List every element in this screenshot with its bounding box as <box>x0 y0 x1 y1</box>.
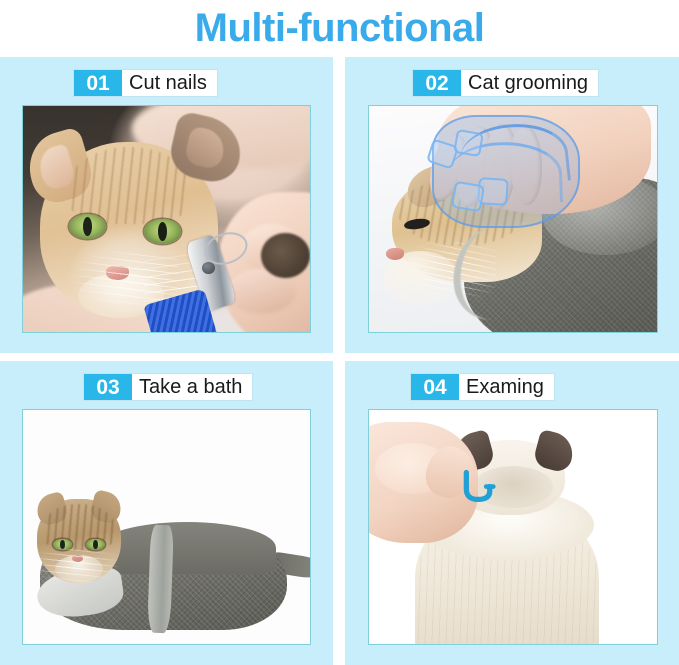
caption-label-03: Take a bath <box>132 374 252 400</box>
caption-number-04: 04 <box>411 374 459 400</box>
feature-panel-01: 01 Cut nails <box>0 57 333 353</box>
product-infographic: Multi-functional 01 Cut nails <box>0 0 679 665</box>
feature-photo-02 <box>368 105 658 333</box>
caption-number-03: 03 <box>84 374 132 400</box>
feature-photo-04 <box>368 409 658 645</box>
feature-photo-01 <box>22 105 311 333</box>
feature-photo-03 <box>22 409 311 645</box>
feature-panel-03: 03 Take a bath <box>0 361 333 665</box>
caption-label-04: Examing <box>459 374 554 400</box>
photo-scene-take-a-bath <box>23 410 310 644</box>
caption-number-02: 02 <box>413 70 461 96</box>
photo-scene-cat-grooming <box>369 106 657 332</box>
caption-chip-01: 01 Cut nails <box>73 69 218 97</box>
caption-number-01: 01 <box>74 70 122 96</box>
caption-label-01: Cut nails <box>122 70 217 96</box>
caption-chip-02: 02 Cat grooming <box>412 69 599 97</box>
mesh-bag-body-top <box>98 522 276 573</box>
glove-finger-ring-4 <box>450 180 484 211</box>
cat-whiskers <box>29 546 121 588</box>
page-title: Multi-functional <box>195 8 485 48</box>
poster-title-bar: Multi-functional <box>0 0 679 55</box>
caption-label-02: Cat grooming <box>461 70 598 96</box>
glove-finger-ring-2 <box>453 129 484 158</box>
cat-eye-right <box>144 219 181 244</box>
photo-scene-cut-nails <box>23 106 310 332</box>
feature-panel-02: 02 Cat grooming <box>345 57 679 353</box>
caption-chip-04: 04 Examing <box>410 373 555 401</box>
photo-scene-examing <box>369 410 657 644</box>
tick-remover-tool <box>455 469 501 516</box>
caption-chip-03: 03 Take a bath <box>83 373 253 401</box>
cat-forehead-stripes <box>69 147 190 224</box>
feature-panel-04: 04 Examing <box>345 361 679 665</box>
